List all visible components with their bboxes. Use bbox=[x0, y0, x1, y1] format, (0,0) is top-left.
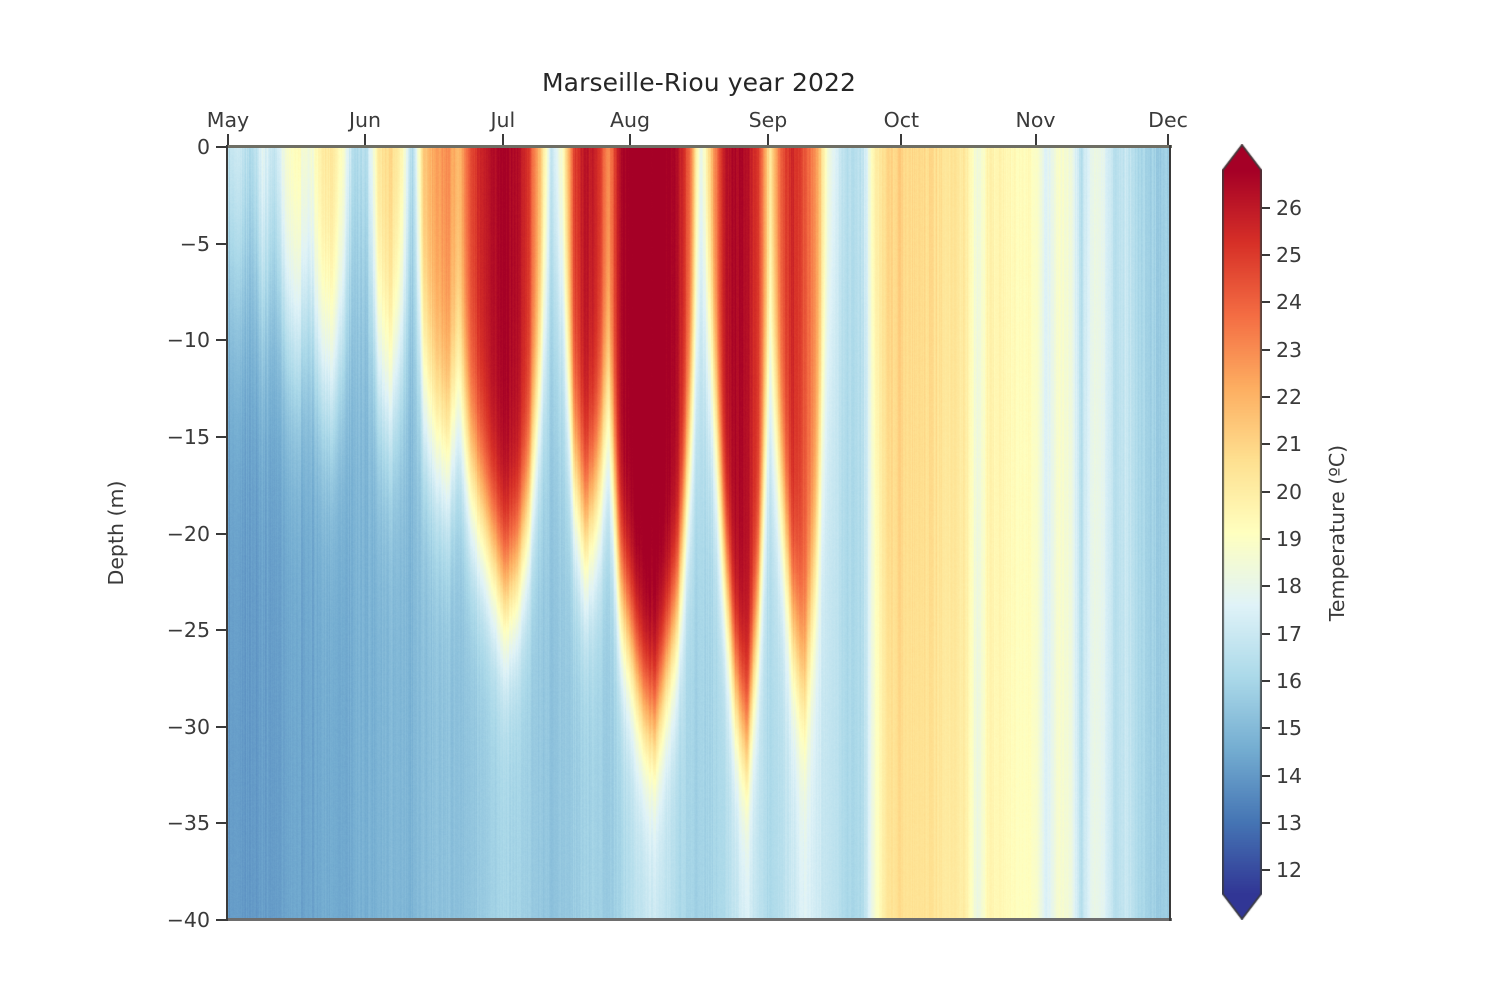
colorbar-tick-label: 19 bbox=[1276, 527, 1302, 551]
colorbar-tick-label: 21 bbox=[1276, 432, 1302, 456]
y-tick-label: −20 bbox=[167, 522, 210, 546]
colorbar-tick-mark bbox=[1262, 443, 1270, 445]
colorbar-tick-label: 23 bbox=[1276, 338, 1302, 362]
colorbar-tick-label: 25 bbox=[1276, 243, 1302, 267]
x-tick-mark bbox=[1035, 134, 1037, 145]
colorbar-label: Temperature (ºC) bbox=[1325, 445, 1349, 621]
colorbar-tick-mark bbox=[1262, 301, 1270, 303]
heatmap-plot-area bbox=[228, 147, 1170, 920]
y-tick-mark bbox=[216, 146, 227, 148]
y-tick-label: −25 bbox=[167, 618, 210, 642]
colorbar-tick-label: 16 bbox=[1276, 669, 1302, 693]
temperature-heatmap bbox=[228, 147, 1170, 920]
colorbar-tick-label: 26 bbox=[1276, 196, 1302, 220]
colorbar-tick-mark bbox=[1262, 396, 1270, 398]
axis-spine-right bbox=[1169, 145, 1171, 921]
y-tick-label: −40 bbox=[167, 908, 210, 932]
axis-spine-top bbox=[228, 145, 1172, 148]
axis-spine-bottom bbox=[228, 918, 1172, 921]
x-tick-label-aug: Aug bbox=[610, 108, 650, 132]
y-tick-label: −35 bbox=[167, 811, 210, 835]
x-tick-mark bbox=[502, 134, 504, 145]
y-tick-label: −15 bbox=[167, 425, 210, 449]
figure-canvas: Marseille-Riou year 2022 MayJunJulAugSep… bbox=[0, 0, 1500, 1000]
y-tick-mark bbox=[216, 726, 227, 728]
y-tick-label: −30 bbox=[167, 715, 210, 739]
y-tick-mark bbox=[216, 339, 227, 341]
y-tick-label: −10 bbox=[167, 328, 210, 352]
colorbar-tick-label: 22 bbox=[1276, 385, 1302, 409]
x-tick-label-may: May bbox=[207, 108, 249, 132]
colorbar-tick-mark bbox=[1262, 633, 1270, 635]
colorbar-tick-mark bbox=[1262, 491, 1270, 493]
x-tick-label-jul: Jul bbox=[491, 108, 516, 132]
colorbar-tick-mark bbox=[1262, 775, 1270, 777]
colorbar-tick-mark bbox=[1262, 207, 1270, 209]
y-tick-mark bbox=[216, 919, 227, 921]
colorbar-tick-mark bbox=[1262, 254, 1270, 256]
colorbar-tick-mark bbox=[1262, 869, 1270, 871]
x-tick-label-oct: Oct bbox=[884, 108, 919, 132]
colorbar-tick-mark bbox=[1262, 538, 1270, 540]
colorbar-tick-mark bbox=[1262, 727, 1270, 729]
y-tick-mark bbox=[216, 436, 227, 438]
colorbar-gradient bbox=[1222, 144, 1262, 920]
x-tick-mark bbox=[900, 134, 902, 145]
colorbar-tick-label: 20 bbox=[1276, 480, 1302, 504]
colorbar-tick-label: 13 bbox=[1276, 811, 1302, 835]
colorbar-tick-label: 17 bbox=[1276, 622, 1302, 646]
colorbar-tick-label: 12 bbox=[1276, 858, 1302, 882]
x-tick-mark bbox=[227, 134, 229, 145]
y-tick-label: −5 bbox=[180, 232, 210, 256]
x-tick-mark bbox=[364, 134, 366, 145]
x-tick-mark bbox=[629, 134, 631, 145]
colorbar-tick-mark bbox=[1262, 822, 1270, 824]
colorbar-tick-mark bbox=[1262, 349, 1270, 351]
colorbar-tick-label: 24 bbox=[1276, 290, 1302, 314]
x-tick-label-dec: Dec bbox=[1148, 108, 1188, 132]
colorbar-tick-label: 18 bbox=[1276, 574, 1302, 598]
colorbar-tick-label: 15 bbox=[1276, 716, 1302, 740]
colorbar-tick-mark bbox=[1262, 680, 1270, 682]
colorbar-tick-label: 14 bbox=[1276, 764, 1302, 788]
x-tick-mark bbox=[767, 134, 769, 145]
x-tick-label-sep: Sep bbox=[749, 108, 788, 132]
page-title: Marseille-Riou year 2022 bbox=[228, 68, 1170, 97]
x-tick-label-jun: Jun bbox=[349, 108, 381, 132]
y-tick-mark bbox=[216, 243, 227, 245]
colorbar bbox=[1222, 144, 1262, 920]
y-axis-label: Depth (m) bbox=[104, 481, 128, 586]
colorbar-tick-mark bbox=[1262, 585, 1270, 587]
y-tick-mark bbox=[216, 629, 227, 631]
y-tick-label: 0 bbox=[197, 135, 210, 159]
y-tick-mark bbox=[216, 822, 227, 824]
y-tick-mark bbox=[216, 533, 227, 535]
x-tick-mark bbox=[1167, 134, 1169, 145]
x-tick-label-nov: Nov bbox=[1016, 108, 1056, 132]
